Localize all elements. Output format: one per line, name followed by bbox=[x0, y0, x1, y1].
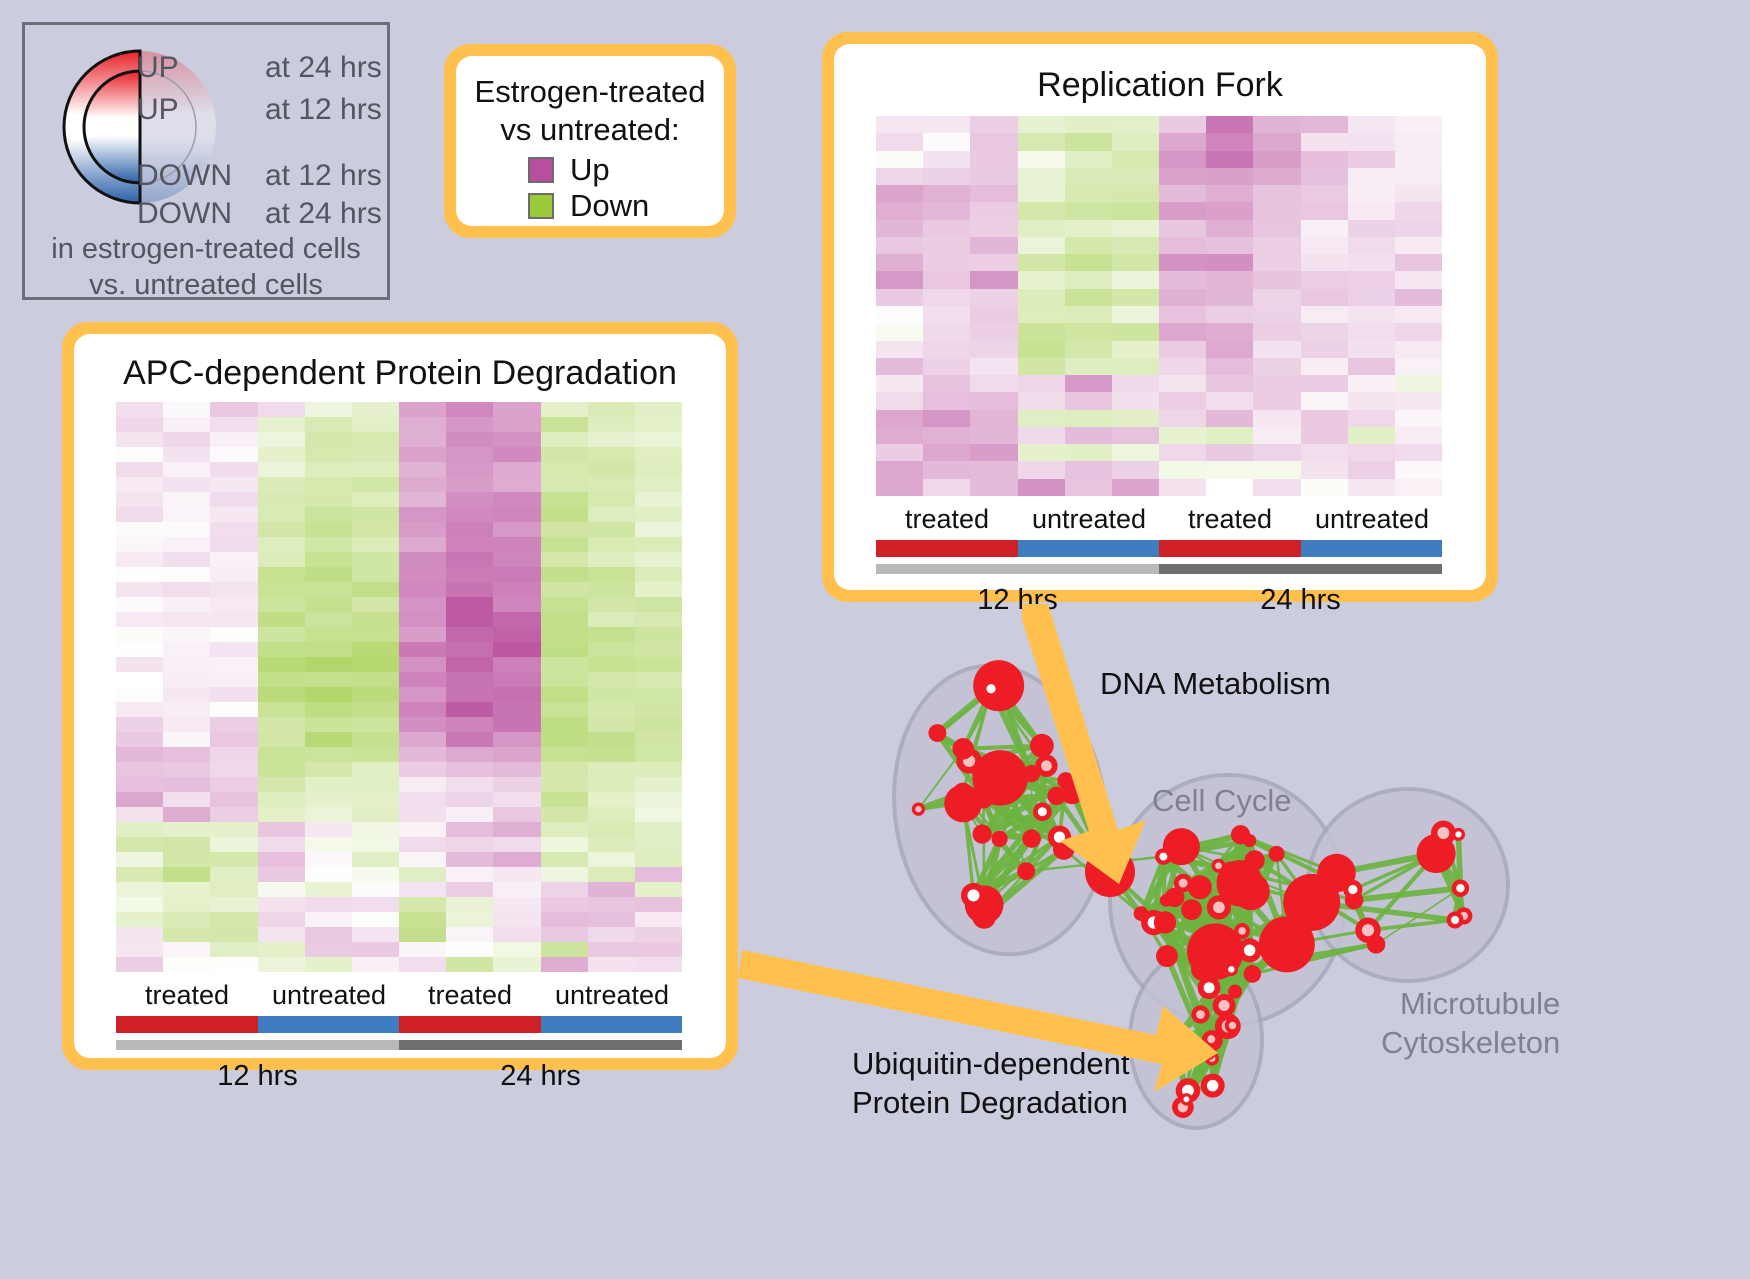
heatmap-cell bbox=[305, 537, 352, 552]
network-node[interactable] bbox=[1232, 873, 1270, 911]
network-edge bbox=[1250, 841, 1255, 861]
network-node[interactable] bbox=[1060, 781, 1084, 805]
network-edge bbox=[1183, 969, 1231, 1107]
heatmap-cell bbox=[1348, 220, 1395, 237]
network-node[interactable] bbox=[1156, 945, 1178, 967]
network-edge bbox=[937, 733, 983, 799]
network-node[interactable] bbox=[1048, 825, 1071, 848]
network-node[interactable] bbox=[1228, 985, 1242, 999]
heatmap-cell bbox=[352, 642, 399, 657]
heatmap-cell bbox=[1018, 306, 1065, 323]
network-node[interactable] bbox=[1447, 912, 1464, 929]
heatmap-cell bbox=[541, 687, 588, 702]
network-node[interactable] bbox=[1022, 829, 1040, 847]
network-node[interactable] bbox=[1176, 1078, 1201, 1103]
heatmap-cell bbox=[399, 912, 446, 927]
network-node[interactable] bbox=[1417, 834, 1456, 873]
heatmap-cell bbox=[258, 792, 305, 807]
network-edge bbox=[983, 746, 1041, 799]
heatmap-cell bbox=[1206, 427, 1253, 444]
heatmap-cell bbox=[493, 612, 540, 627]
network-node[interactable] bbox=[1030, 734, 1054, 758]
network-edge bbox=[984, 837, 1059, 905]
heatmap-cell bbox=[588, 492, 635, 507]
key-footer-line2: vs. untreated cells bbox=[25, 269, 387, 302]
network-edge bbox=[937, 689, 991, 733]
heatmap-cell bbox=[446, 402, 493, 417]
network-edge bbox=[1064, 849, 1141, 914]
heatmap-cell bbox=[541, 582, 588, 597]
heatmap-cell bbox=[1159, 202, 1206, 219]
network-edge bbox=[1213, 950, 1250, 1085]
network-node[interactable] bbox=[1212, 897, 1225, 910]
network-edge bbox=[1166, 887, 1200, 900]
network-node[interactable] bbox=[928, 724, 946, 742]
network-edge bbox=[1353, 854, 1436, 890]
heatmap-cell bbox=[1159, 461, 1206, 478]
heatmap-cell bbox=[1065, 185, 1112, 202]
heatmap-cell bbox=[970, 289, 1017, 306]
network-node[interactable] bbox=[1023, 765, 1040, 782]
heatmap-cell bbox=[923, 185, 970, 202]
heatmap-cell bbox=[1348, 358, 1395, 375]
heatmap-cell bbox=[970, 358, 1017, 375]
network-edge bbox=[1167, 897, 1175, 956]
heatmap-cell bbox=[163, 522, 210, 537]
heatmap-cell bbox=[1301, 323, 1348, 340]
heatmap-cell bbox=[493, 672, 540, 687]
network-node[interactable] bbox=[1244, 965, 1262, 983]
network-edge bbox=[1219, 870, 1231, 904]
network-node[interactable] bbox=[981, 679, 1000, 698]
network-edge bbox=[1188, 1005, 1224, 1090]
network-edge bbox=[1368, 920, 1455, 930]
heatmap-cell bbox=[1206, 444, 1253, 461]
heatmap-cell bbox=[1301, 237, 1348, 254]
heatmap-cell bbox=[258, 567, 305, 582]
heatmap-cell bbox=[163, 897, 210, 912]
heatmap-cell bbox=[588, 897, 635, 912]
heatmap-cell bbox=[399, 582, 446, 597]
heatmap-cell bbox=[588, 552, 635, 567]
heatmap-cell bbox=[446, 732, 493, 747]
heatmap-cell bbox=[446, 642, 493, 657]
network-edge bbox=[1192, 891, 1251, 909]
heatmap-cell bbox=[446, 687, 493, 702]
network-edge bbox=[963, 778, 1000, 793]
network-node[interactable] bbox=[1222, 861, 1238, 877]
network-node[interactable] bbox=[974, 789, 994, 809]
network-node[interactable] bbox=[1452, 879, 1469, 896]
network-edge bbox=[1353, 890, 1354, 901]
heatmap-cell bbox=[116, 867, 163, 882]
condition-label-untreated-12-apc: untreated bbox=[258, 980, 400, 1011]
heatmap-cell bbox=[588, 567, 635, 582]
heatmap-cell bbox=[541, 762, 588, 777]
heatmap-cell bbox=[1018, 289, 1065, 306]
heatmap-cell bbox=[305, 447, 352, 462]
network-edge bbox=[1031, 774, 1059, 837]
network-edge bbox=[1219, 866, 1287, 945]
network-edge bbox=[963, 793, 974, 896]
network-edge bbox=[1287, 930, 1368, 944]
heatmap-cell bbox=[1065, 306, 1112, 323]
network-node[interactable] bbox=[956, 748, 981, 773]
heatmap-cell bbox=[635, 597, 682, 612]
heatmap-cell bbox=[588, 522, 635, 537]
heatmap-cell bbox=[352, 957, 399, 972]
network-node[interactable] bbox=[1155, 848, 1172, 865]
network-node[interactable] bbox=[1160, 894, 1173, 907]
heatmap-cell bbox=[352, 402, 399, 417]
network-edge bbox=[1231, 870, 1250, 951]
network-node[interactable] bbox=[1231, 825, 1250, 844]
heatmap-cell bbox=[258, 867, 305, 882]
network-edge bbox=[937, 733, 1000, 778]
heatmap-cell bbox=[163, 732, 210, 747]
heatmap-cell bbox=[923, 323, 970, 340]
key-row-up-24-time: at 24 hrs bbox=[265, 51, 382, 85]
network-node[interactable] bbox=[1238, 938, 1262, 962]
heatmap-cell bbox=[541, 447, 588, 462]
network-edge bbox=[1235, 974, 1252, 992]
heatmap-cell bbox=[1206, 392, 1253, 409]
heatmap-cell bbox=[635, 957, 682, 972]
network-node[interactable] bbox=[972, 905, 996, 929]
heatmap-cell bbox=[116, 792, 163, 807]
heatmap-cell bbox=[446, 417, 493, 432]
heatmap-cell bbox=[588, 597, 635, 612]
network-node[interactable] bbox=[1188, 875, 1212, 899]
network-edge bbox=[1200, 887, 1204, 968]
network-edge bbox=[1166, 883, 1239, 900]
heatmap-cell bbox=[1395, 289, 1442, 306]
heatmap-cell bbox=[399, 597, 446, 612]
heatmap-cell bbox=[493, 882, 540, 897]
heatmap-cell bbox=[588, 837, 635, 852]
heatmap-cell bbox=[1395, 410, 1442, 427]
heatmap-cell bbox=[493, 462, 540, 477]
network-node[interactable] bbox=[952, 738, 974, 760]
legend-title-line2: vs untreated: bbox=[456, 112, 724, 148]
heatmap-cell bbox=[923, 358, 970, 375]
network-edge bbox=[1032, 746, 1042, 839]
heatmap-cell bbox=[1018, 237, 1065, 254]
network-edge bbox=[1241, 835, 1337, 873]
heatmap-cell bbox=[876, 168, 923, 185]
heatmap-cell bbox=[258, 897, 305, 912]
network-node[interactable] bbox=[1215, 1013, 1241, 1039]
heatmap-cell bbox=[970, 444, 1017, 461]
heatmap-cell bbox=[876, 133, 923, 150]
heatmap-cell bbox=[1065, 392, 1112, 409]
network-edge bbox=[1163, 835, 1240, 857]
network-edge bbox=[1000, 778, 1056, 796]
network-edge bbox=[1212, 931, 1242, 1059]
network-edge bbox=[1000, 812, 1043, 839]
network-edge bbox=[1215, 952, 1224, 1006]
network-node[interactable] bbox=[1168, 1030, 1184, 1046]
legend-item-down: Down bbox=[528, 188, 649, 224]
heatmap-cell bbox=[493, 552, 540, 567]
network-node[interactable] bbox=[1033, 802, 1052, 821]
heatmap-cell bbox=[1301, 254, 1348, 271]
heatmap-cell bbox=[258, 402, 305, 417]
heatmap-cell bbox=[163, 447, 210, 462]
condition-bar-treated-24-apc bbox=[399, 1016, 541, 1033]
heatmap-cell bbox=[923, 410, 970, 427]
heatmap-cell bbox=[163, 957, 210, 972]
network-edge bbox=[1183, 1041, 1212, 1108]
condition-bar-untreated-24-apc bbox=[541, 1016, 682, 1033]
network-node[interactable] bbox=[1141, 910, 1166, 935]
network-node[interactable] bbox=[1243, 834, 1256, 847]
heatmap-cell bbox=[1018, 133, 1065, 150]
network-edge bbox=[1165, 870, 1231, 923]
heatmap-cell bbox=[352, 732, 399, 747]
network-node[interactable] bbox=[1343, 880, 1362, 899]
heatmap-cell bbox=[446, 702, 493, 717]
heatmap-cell bbox=[541, 747, 588, 762]
network-node[interactable] bbox=[1180, 1093, 1192, 1105]
heatmap-cell bbox=[210, 912, 257, 927]
network-edge bbox=[1231, 883, 1239, 969]
heatmap-cell bbox=[1348, 461, 1395, 478]
heatmap-cell bbox=[1206, 375, 1253, 392]
heatmap-cell bbox=[446, 552, 493, 567]
heatmap-cell bbox=[352, 522, 399, 537]
network-node[interactable] bbox=[1367, 935, 1386, 954]
heatmap-cell bbox=[399, 852, 446, 867]
network-node[interactable] bbox=[972, 750, 1027, 805]
network-edge bbox=[973, 839, 999, 896]
network-edge bbox=[1032, 792, 1073, 838]
network-edge bbox=[1166, 900, 1228, 1026]
time-label-12hrs: 12 hrs bbox=[876, 584, 1159, 617]
network-node[interactable] bbox=[961, 883, 986, 908]
heatmap-cell bbox=[258, 447, 305, 462]
network-node[interactable] bbox=[1225, 1018, 1241, 1034]
heatmap-cell bbox=[258, 912, 305, 927]
network-node[interactable] bbox=[1057, 772, 1074, 789]
network-node[interactable] bbox=[912, 803, 925, 816]
network-edge bbox=[1460, 888, 1463, 916]
heatmap-cell bbox=[1159, 271, 1206, 288]
network-edge bbox=[1368, 854, 1436, 931]
network-node[interactable] bbox=[1202, 1030, 1223, 1051]
network-edge bbox=[1192, 854, 1277, 910]
heatmap-cell bbox=[1253, 323, 1300, 340]
network-node[interactable] bbox=[1053, 838, 1075, 860]
network-node[interactable] bbox=[1035, 755, 1057, 777]
heatmap-cell bbox=[876, 271, 923, 288]
network-node[interactable] bbox=[972, 824, 991, 843]
network-node[interactable] bbox=[1355, 917, 1380, 942]
heatmap-cell bbox=[1253, 202, 1300, 219]
heatmap-cell bbox=[352, 477, 399, 492]
network-edge bbox=[1241, 835, 1255, 861]
network-node[interactable] bbox=[944, 785, 982, 823]
network-node[interactable] bbox=[1317, 854, 1355, 892]
network-edge bbox=[1026, 780, 1066, 871]
heatmap-cell bbox=[493, 477, 540, 492]
network-edge bbox=[963, 799, 983, 804]
network-node[interactable] bbox=[1085, 847, 1135, 897]
heatmap-cell bbox=[1253, 151, 1300, 168]
network-node[interactable] bbox=[1225, 963, 1239, 977]
network-node[interactable] bbox=[1154, 911, 1176, 933]
heatmap-cell bbox=[163, 507, 210, 522]
heatmap-cell bbox=[258, 837, 305, 852]
heatmap-cell bbox=[210, 447, 257, 462]
network-node[interactable] bbox=[1455, 907, 1472, 924]
network-node[interactable] bbox=[1165, 888, 1185, 908]
network-edge bbox=[969, 761, 1000, 839]
time-label-12hrs-apc: 12 hrs bbox=[116, 1060, 399, 1093]
heatmap-cell bbox=[258, 807, 305, 822]
network-node[interactable] bbox=[1245, 850, 1265, 870]
heatmap-cell bbox=[541, 402, 588, 417]
heatmap-cell bbox=[493, 732, 540, 747]
network-node[interactable] bbox=[1283, 874, 1340, 931]
network-edge bbox=[1231, 969, 1252, 974]
network-edge bbox=[1215, 902, 1311, 951]
cluster-blob-ubiquitin bbox=[1130, 952, 1262, 1128]
network-node[interactable] bbox=[1197, 1041, 1216, 1060]
network-edge bbox=[1066, 780, 1110, 872]
network-node[interactable] bbox=[1345, 891, 1363, 909]
network-edge bbox=[1212, 1005, 1224, 1040]
heatmap-cell bbox=[446, 447, 493, 462]
network-node[interactable] bbox=[1191, 956, 1216, 981]
network-edge bbox=[991, 689, 1046, 766]
time-bar-12hrs bbox=[876, 564, 1159, 574]
network-node[interactable] bbox=[1201, 1074, 1225, 1098]
heatmap-cell bbox=[352, 627, 399, 642]
network-edge bbox=[963, 749, 969, 761]
network-node[interactable] bbox=[953, 783, 974, 804]
heatmap-cell bbox=[163, 432, 210, 447]
heatmap-cell bbox=[258, 597, 305, 612]
heatmap-cell bbox=[1348, 427, 1395, 444]
network-node[interactable] bbox=[1212, 859, 1226, 873]
network-node[interactable] bbox=[1216, 860, 1262, 906]
network-edge bbox=[1212, 1005, 1224, 1058]
heatmap-cell bbox=[1206, 410, 1253, 427]
network-node[interactable] bbox=[1234, 923, 1250, 939]
network-edge bbox=[1165, 910, 1191, 923]
network-node[interactable] bbox=[1259, 916, 1315, 972]
heatmap-cell bbox=[635, 897, 682, 912]
heatmap-cell bbox=[876, 479, 923, 496]
network-node[interactable] bbox=[1452, 828, 1465, 841]
network-node[interactable] bbox=[1181, 899, 1202, 920]
legend-item-up: Up bbox=[528, 152, 610, 188]
heatmap-cell bbox=[635, 927, 682, 942]
heatmap-cell bbox=[970, 323, 1017, 340]
heatmap-cell bbox=[305, 792, 352, 807]
network-edge bbox=[1213, 1005, 1224, 1085]
network-edge bbox=[1219, 904, 1235, 992]
heatmap-cell bbox=[116, 627, 163, 642]
network-edge bbox=[1165, 922, 1212, 1058]
heatmap-cell bbox=[1253, 392, 1300, 409]
heatmap-cell bbox=[970, 410, 1017, 427]
network-edge bbox=[1200, 887, 1242, 931]
network-node[interactable] bbox=[1174, 874, 1193, 893]
network-edge bbox=[1154, 923, 1242, 931]
network-edge bbox=[1000, 778, 1064, 849]
network-edge bbox=[1042, 812, 1059, 837]
heatmap-cell bbox=[305, 627, 352, 642]
network-node[interactable] bbox=[1134, 906, 1149, 921]
heatmap-cell bbox=[493, 777, 540, 792]
heatmap-cell bbox=[352, 912, 399, 927]
network-node[interactable] bbox=[1047, 787, 1065, 805]
network-node[interactable] bbox=[1172, 1096, 1194, 1118]
heatmap-cell bbox=[1112, 220, 1159, 237]
network-edge bbox=[1166, 900, 1250, 950]
heatmap-cell bbox=[541, 852, 588, 867]
heatmap-cell bbox=[1018, 323, 1065, 340]
network-node[interactable] bbox=[1198, 976, 1221, 999]
cluster-label-cell-cycle: Cell Cycle bbox=[1152, 783, 1292, 819]
network-node[interactable] bbox=[1163, 828, 1200, 865]
network-edge bbox=[1163, 857, 1219, 904]
network-edge bbox=[1376, 888, 1460, 944]
network-node[interactable] bbox=[1203, 1031, 1220, 1048]
heatmap-cell bbox=[446, 807, 493, 822]
heatmap-cell bbox=[116, 672, 163, 687]
heatmap-cell bbox=[1395, 479, 1442, 496]
network-node[interactable] bbox=[1205, 1051, 1219, 1065]
heatmap-cell bbox=[210, 852, 257, 867]
network-edge bbox=[1167, 891, 1251, 956]
network-edge bbox=[1192, 887, 1200, 909]
up-color-swatch-icon bbox=[528, 157, 554, 183]
network-node[interactable] bbox=[1431, 821, 1456, 846]
network-edge bbox=[1000, 774, 1032, 839]
network-edge bbox=[1231, 841, 1250, 870]
network-node[interactable] bbox=[1269, 846, 1285, 862]
condition-bar-treated-12 bbox=[876, 540, 1018, 557]
heatmap-cell bbox=[258, 882, 305, 897]
network-node[interactable] bbox=[991, 831, 1007, 847]
network-edge bbox=[1166, 900, 1191, 909]
heatmap-cell bbox=[305, 477, 352, 492]
network-node[interactable] bbox=[1187, 923, 1243, 979]
heatmap-cell bbox=[876, 237, 923, 254]
network-node[interactable] bbox=[965, 885, 1004, 924]
network-node[interactable] bbox=[1213, 994, 1236, 1017]
network-edge bbox=[1277, 854, 1287, 944]
network-node[interactable] bbox=[1017, 862, 1035, 880]
heatmap-cell bbox=[923, 151, 970, 168]
heatmap-cell bbox=[1348, 254, 1395, 271]
heatmap-cell bbox=[305, 747, 352, 762]
network-node[interactable] bbox=[1191, 1005, 1209, 1023]
time-bar-24hrs bbox=[1159, 564, 1442, 574]
heatmap-cell bbox=[493, 807, 540, 822]
network-node[interactable] bbox=[1207, 895, 1231, 919]
heatmap-cell bbox=[1159, 392, 1206, 409]
network-edge bbox=[1141, 914, 1167, 956]
heatmap-cell bbox=[210, 897, 257, 912]
heatmap-cell bbox=[635, 462, 682, 477]
network-node[interactable] bbox=[973, 660, 1024, 711]
condition-bar-treated-12-apc bbox=[116, 1016, 258, 1033]
heatmap-cell bbox=[210, 927, 257, 942]
